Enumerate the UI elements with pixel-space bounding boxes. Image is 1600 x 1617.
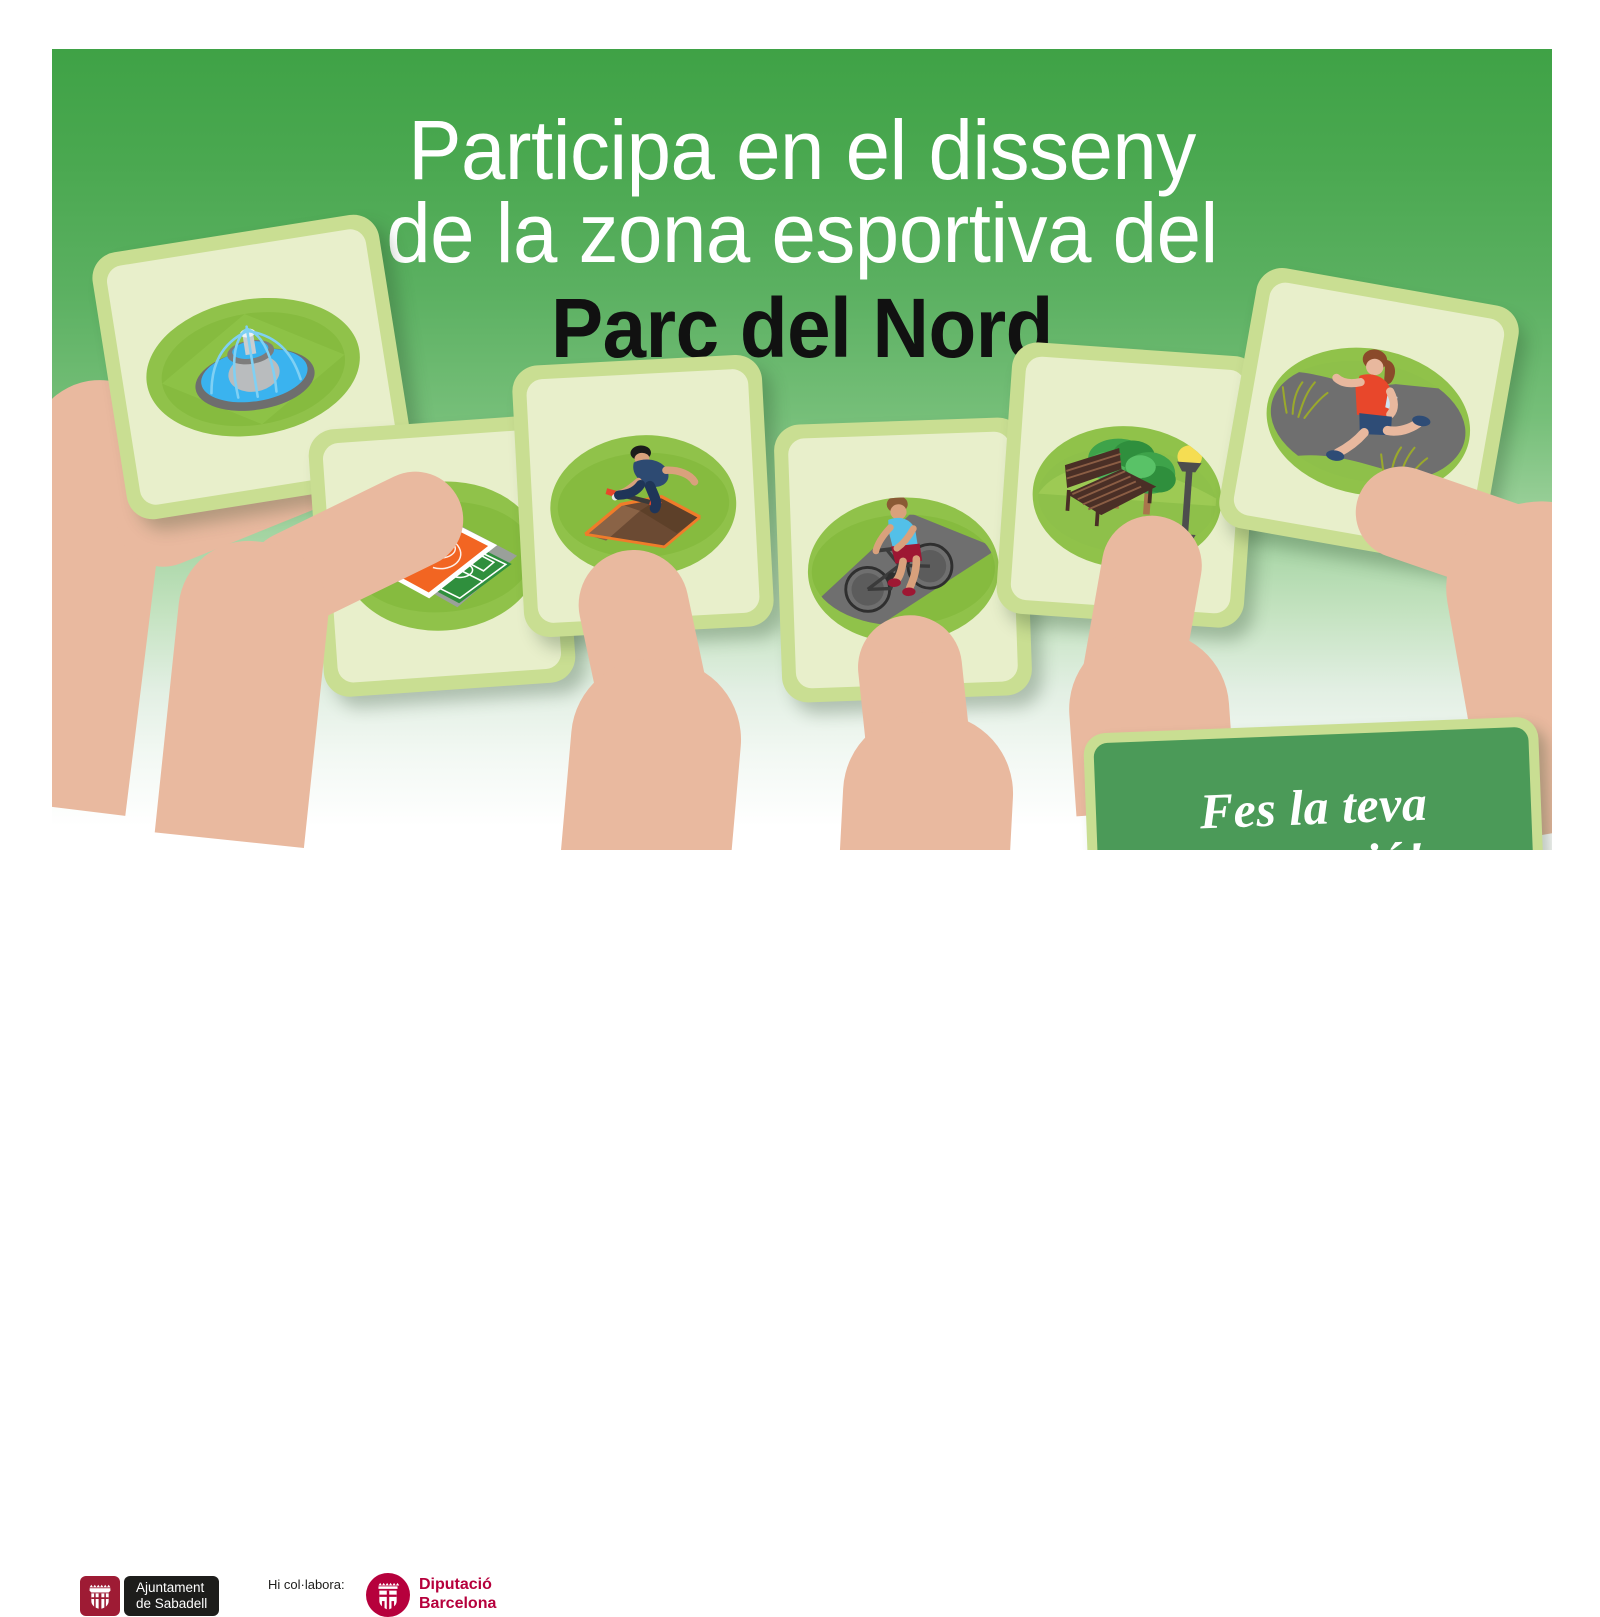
diputacio-crest-icon: [366, 1573, 410, 1617]
diba-name-box: Diputació Barcelona: [419, 1576, 496, 1614]
headline-line-1: Participa en el disseny: [90, 109, 1515, 192]
sabadell-crest-svg: [87, 1582, 113, 1610]
sabadell-crest-icon: [80, 1576, 120, 1616]
sabadell-line-2: de Sabadell: [136, 1596, 207, 1612]
fountain-icon: [136, 283, 369, 450]
logo-ajuntament-sabadell[interactable]: Ajuntament de Sabadell: [80, 1576, 219, 1616]
diputacio-crest-svg: [375, 1580, 401, 1610]
card-plot: [136, 283, 369, 450]
diba-line-2: Barcelona: [419, 1595, 496, 1614]
diba-line-1: Diputació: [419, 1576, 496, 1595]
sabadell-line-1: Ajuntament: [136, 1580, 207, 1596]
poster-stage: Participa en el disseny de la zona espor…: [52, 49, 1552, 850]
poster-root: Participa en el disseny de la zona espor…: [0, 0, 1600, 900]
logo-diputacio-barcelona[interactable]: Diputació Barcelona: [366, 1573, 496, 1617]
sabadell-name-box: Ajuntament de Sabadell: [124, 1576, 219, 1616]
footer: Ajuntament de Sabadell Hi col·labora: Di…: [0, 780, 1600, 860]
collaborate-label: Hi col·labora:: [268, 1577, 345, 1592]
